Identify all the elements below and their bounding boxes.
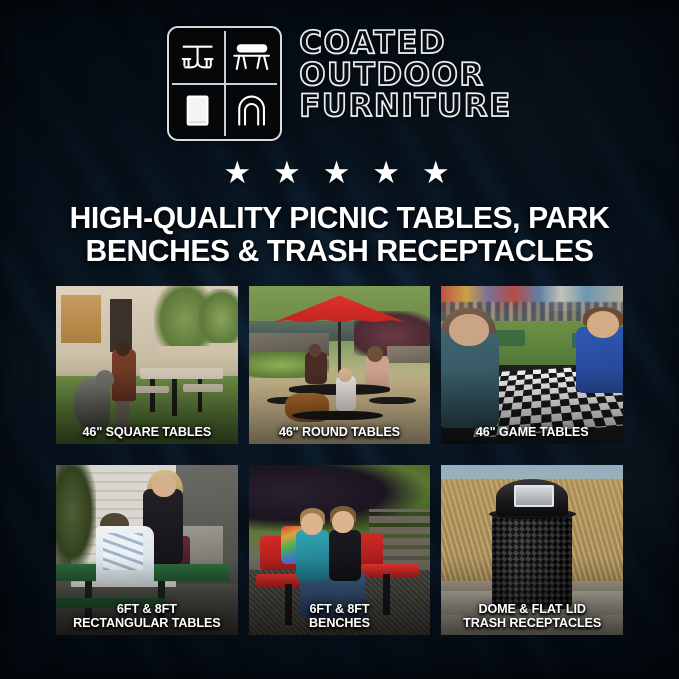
caption-line-1: 46" SQUARE TABLES [59, 426, 235, 439]
brand-word-furniture: FURNITURE [299, 91, 512, 122]
caption-line-1: DOME & FLAT LID [444, 603, 620, 616]
product-caption: DOME & FLAT LID TRASH RECEPTACLES [444, 603, 620, 630]
picnic-table-icon [172, 31, 224, 83]
caption-line-1: 6FT & 8FT [59, 603, 235, 616]
logo-mark [167, 26, 282, 141]
brand-logo: COATED OUTDOOR FURNITURE [0, 26, 679, 141]
caption-line-2: TRASH RECEPTACLES [444, 617, 620, 630]
headline-line-2: BENCHES & TRASH RECEPTACLES [27, 235, 652, 268]
headline-line-1: HIGH-QUALITY PICNIC TABLES, PARK [27, 202, 652, 235]
brand-word-coated: COATED [299, 28, 512, 59]
product-caption: 46" ROUND TABLES [252, 426, 428, 439]
product-caption: 6FT & 8FT RECTANGULAR TABLES [59, 603, 235, 630]
bench-icon [226, 31, 278, 83]
product-card-game-tables[interactable]: 46" GAME TABLES [441, 286, 623, 444]
caption-line-1: 46" GAME TABLES [444, 426, 620, 439]
product-grid: 46" SQUARE TABLES [56, 286, 623, 635]
product-card-round-tables[interactable]: 46" ROUND TABLES [249, 286, 431, 444]
brand-word-outdoor: OUTDOOR [299, 60, 512, 91]
caption-line-2: BENCHES [252, 617, 428, 630]
product-caption: 46" GAME TABLES [444, 426, 620, 439]
logo-icon-grid [172, 31, 277, 136]
banner-content: COATED OUTDOOR FURNITURE ★ ★ ★ ★ ★ HIGH-… [0, 0, 679, 679]
caption-line-1: 46" ROUND TABLES [252, 426, 428, 439]
caption-line-1: 6FT & 8FT [252, 603, 428, 616]
trash-receptacle-icon [172, 85, 224, 137]
banner: COATED OUTDOOR FURNITURE ★ ★ ★ ★ ★ HIGH-… [0, 0, 679, 679]
page-title: HIGH-QUALITY PICNIC TABLES, PARK BENCHES… [27, 202, 652, 268]
star-rating: ★ ★ ★ ★ ★ [0, 158, 679, 189]
product-caption: 46" SQUARE TABLES [59, 426, 235, 439]
product-card-benches[interactable]: 6FT & 8FT BENCHES [249, 465, 431, 635]
product-card-rectangular-tables[interactable]: 6FT & 8FT RECTANGULAR TABLES [56, 465, 238, 635]
brand-wordmark: COATED OUTDOOR FURNITURE [299, 26, 512, 122]
product-card-square-tables[interactable]: 46" SQUARE TABLES [56, 286, 238, 444]
caption-line-2: RECTANGULAR TABLES [59, 617, 235, 630]
product-caption: 6FT & 8FT BENCHES [252, 603, 428, 630]
arch-bike-rack-icon [226, 85, 278, 137]
product-card-trash-receptacles[interactable]: DOME & FLAT LID TRASH RECEPTACLES [441, 465, 623, 635]
